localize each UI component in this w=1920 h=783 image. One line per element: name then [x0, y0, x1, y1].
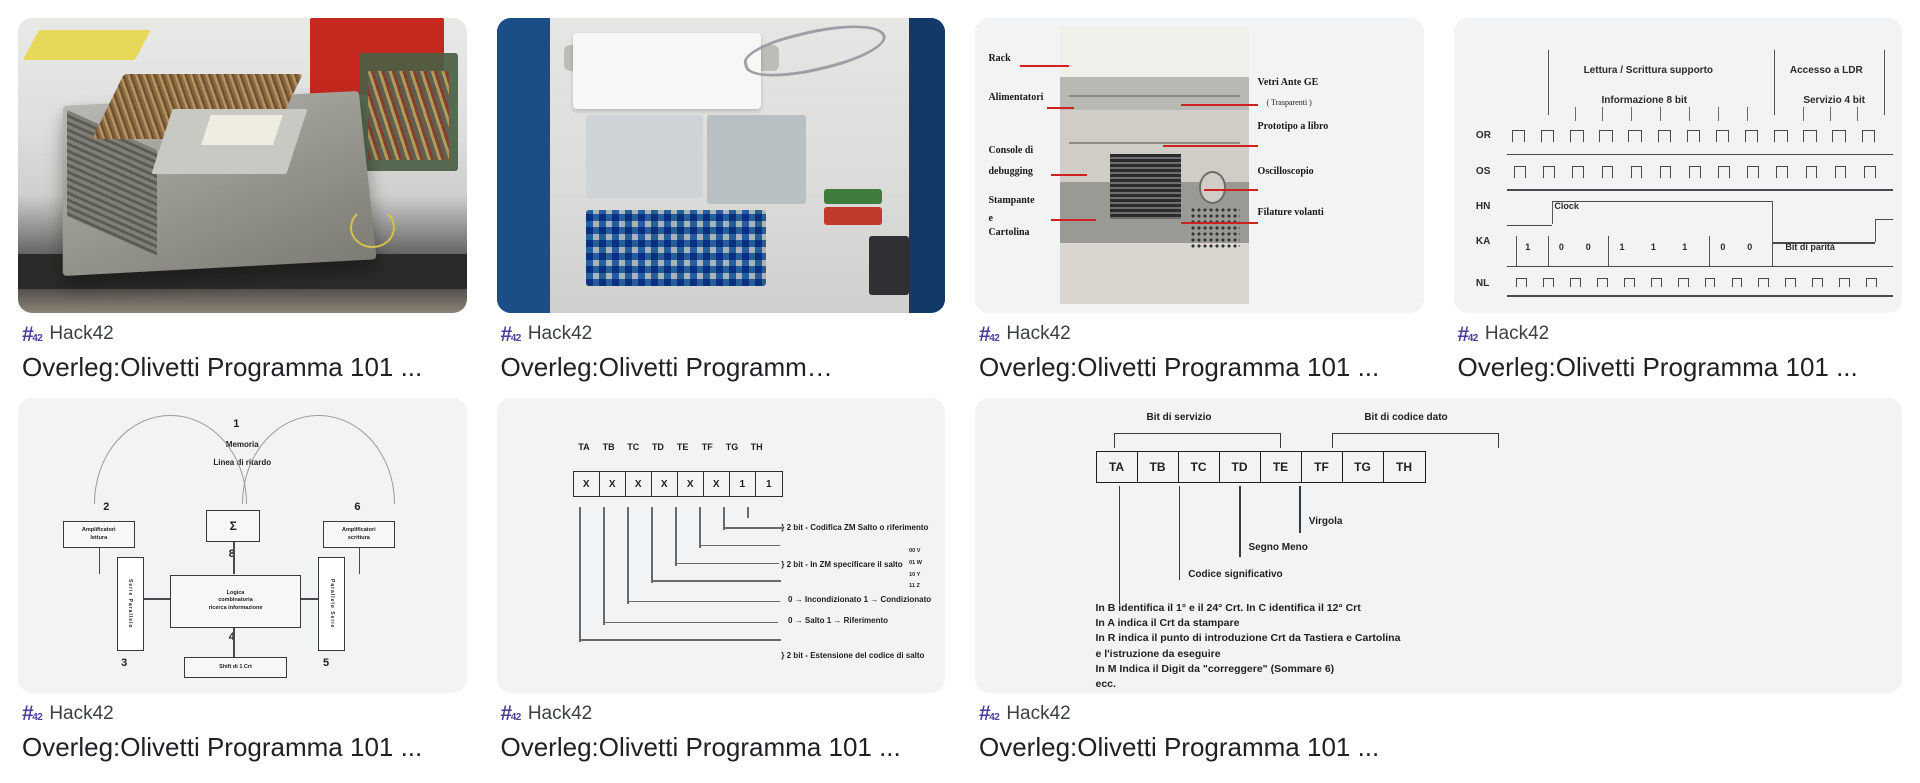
- bitfield-cell: X: [600, 472, 626, 496]
- bit-value: 1: [1682, 242, 1687, 252]
- source-name: Hack42: [49, 703, 113, 725]
- bitfield-cell: X: [652, 472, 678, 496]
- rack-label: Oscilloscopio: [1258, 166, 1314, 177]
- hardware-photo: [18, 18, 467, 313]
- annotation-segno-meno: Segno Meno: [1248, 542, 1307, 553]
- bitfield-header: TG: [721, 442, 743, 452]
- bit-value: 0: [1586, 242, 1591, 252]
- result-caption: #42 Hack42 Overleg:Olivetti Programma 10…: [975, 693, 1902, 764]
- bit-value: 1: [1619, 242, 1624, 252]
- bit-value: 0: [1747, 242, 1752, 252]
- bitfield-cell: TH: [1384, 452, 1425, 482]
- bitfield-cell: TF: [1302, 452, 1343, 482]
- result-card[interactable]: Rack Alimentatori Console di debugging S…: [975, 18, 1424, 384]
- block-shift: Shift di 1 Crt: [184, 657, 287, 678]
- result-thumbnail[interactable]: Bit di servizio Bit di codice dato TA TB…: [975, 398, 1902, 693]
- result-card[interactable]: Bit di servizio Bit di codice dato TA TB…: [975, 398, 1902, 764]
- result-source[interactable]: #42 Hack42: [979, 323, 1420, 345]
- block-number: 3: [121, 657, 127, 669]
- bitfield-note: } 2 bit - Estensione del codice di salto: [781, 651, 924, 660]
- result-title[interactable]: Overleg:Olivetti Programma 101 ...: [22, 351, 463, 384]
- bit-value: 0: [1559, 242, 1564, 252]
- result-card[interactable]: #42 Hack42 Overleg:Olivetti Programma 10…: [18, 18, 467, 384]
- block-summation: Σ: [206, 510, 260, 542]
- service-bitfield-row: TA TB TC TD TE TF TG TH: [1096, 451, 1426, 483]
- bitfield-cell: X: [678, 472, 704, 496]
- timing-subheading-right: Servizio 4 bit: [1803, 95, 1865, 106]
- result-caption: #42 Hack42 Overleg:Olivetti Programma 10…: [18, 313, 467, 384]
- bitfield-cell: TC: [1179, 452, 1220, 482]
- timing-subheading-left: Informazione 8 bit: [1602, 95, 1688, 106]
- hack42-logo-icon: #42: [1458, 324, 1478, 345]
- source-name: Hack42: [1485, 323, 1549, 345]
- bitfield-code: 10 Y: [909, 572, 920, 578]
- hack42-logo-icon: #42: [22, 703, 42, 724]
- bitfield-cell: X: [626, 472, 652, 496]
- hack42-logo-icon: #42: [979, 324, 999, 345]
- jump-bitfield-diagram: TA TB TC TD TE TF TG TH X X X X X X 1 1: [497, 398, 946, 693]
- timing-heading-left: Lettura / Scrittura supporto: [1584, 65, 1713, 76]
- clock-label: Clock: [1554, 201, 1579, 211]
- bitfield-cell: TG: [1343, 452, 1384, 482]
- hack42-logo-icon: #42: [22, 324, 42, 345]
- result-title[interactable]: Overleg:Olivetti Programma 101 ...: [979, 351, 1420, 384]
- bitfield-header: TB: [597, 442, 619, 452]
- source-name: Hack42: [528, 323, 592, 345]
- rack-label: ( Trasparenti ): [1267, 98, 1312, 107]
- result-card[interactable]: 1 Memoria Linea di ritardo 2 Amplificato…: [18, 398, 467, 764]
- bitfield-code: 01 W: [909, 560, 922, 566]
- signal-label-hn: HN: [1476, 201, 1490, 212]
- result-title[interactable]: Overleg:Olivetti Programm…: [501, 351, 942, 384]
- bitfield-header: TE: [671, 442, 693, 452]
- annotation-virgola: Virgola: [1309, 516, 1343, 527]
- annotated-rack-photo: Rack Alimentatori Console di debugging S…: [975, 18, 1424, 313]
- signal-label-ka: KA: [1476, 236, 1490, 247]
- bit-value: 0: [1720, 242, 1725, 252]
- block-serie-parallelo: Serie Parallelo: [117, 557, 144, 651]
- result-source[interactable]: #42 Hack42: [501, 323, 942, 345]
- bitfield-row: X X X X X X 1 1: [573, 471, 783, 497]
- bitfield-header: TF: [696, 442, 718, 452]
- block-parallelo-serie: Parallelo Serie: [318, 557, 345, 651]
- parity-label: Bit di parità: [1785, 242, 1835, 252]
- result-card[interactable]: Lettura / Scrittura supporto Informazion…: [1454, 18, 1903, 384]
- hack42-logo-icon: #42: [979, 703, 999, 724]
- source-name: Hack42: [1006, 323, 1070, 345]
- result-source[interactable]: #42 Hack42: [22, 323, 463, 345]
- signal-label-nl: NL: [1476, 278, 1489, 289]
- result-card[interactable]: TA TB TC TD TE TF TG TH X X X X X X 1 1: [497, 398, 946, 764]
- data-bits-caption: Bit di codice dato: [1364, 412, 1447, 423]
- bitfield-note: 0 → Incondizionato 1 → Condizionato: [788, 595, 931, 604]
- result-title[interactable]: Overleg:Olivetti Programma 101 ...: [1458, 351, 1899, 384]
- bitfield-note: 0 → Salto 1 → Riferimento: [788, 616, 888, 625]
- result-caption: #42 Hack42 Overleg:Olivetti Programma 10…: [975, 313, 1424, 384]
- bitfield-cell: TD: [1220, 452, 1261, 482]
- bitfield-header: TH: [745, 442, 767, 452]
- rack-label: Alimentatori: [988, 92, 1043, 103]
- image-results-grid: #42 Hack42 Overleg:Olivetti Programma 10…: [0, 0, 1920, 763]
- result-thumbnail[interactable]: Lettura / Scrittura supporto Informazion…: [1454, 18, 1903, 313]
- rack-label: Filature volanti: [1258, 207, 1324, 218]
- result-thumbnail[interactable]: TA TB TC TD TE TF TG TH X X X X X X 1 1: [497, 398, 946, 693]
- result-thumbnail[interactable]: Rack Alimentatori Console di debugging S…: [975, 18, 1424, 313]
- bitfield-cell: TB: [1138, 452, 1179, 482]
- rack-label: e: [988, 213, 992, 224]
- rack-label: Rack: [988, 53, 1010, 64]
- source-name: Hack42: [49, 323, 113, 345]
- hack42-logo-icon: #42: [501, 703, 521, 724]
- rack-label: Stampante: [988, 195, 1034, 206]
- source-name: Hack42: [528, 703, 592, 725]
- rack-label: Vetri Ante GE: [1258, 77, 1319, 88]
- block-number: 2: [103, 501, 109, 513]
- result-thumbnail[interactable]: [18, 18, 467, 313]
- result-caption: #42 Hack42 Overleg:Olivetti Programm…: [497, 313, 946, 384]
- signal-label-os: OS: [1476, 166, 1490, 177]
- result-thumbnail[interactable]: [497, 18, 946, 313]
- bitfield-cell: X: [704, 472, 730, 496]
- hack42-logo-icon: #42: [501, 324, 521, 345]
- memory-block-diagram: 1 Memoria Linea di ritardo 2 Amplificato…: [18, 398, 467, 693]
- result-title[interactable]: Overleg:Olivetti Programma 101 ...: [22, 731, 463, 764]
- bit-value: 1: [1525, 242, 1530, 252]
- result-title[interactable]: Overleg:Olivetti Programma 101 ...: [979, 731, 1898, 764]
- bitfield-note: } 2 bit - Codifica ZM Salto o riferiment…: [781, 523, 928, 532]
- bitfield-code: 00 V: [909, 548, 920, 554]
- bitfield-cell: TA: [1097, 452, 1138, 482]
- rack-label: Prototipo a libro: [1258, 121, 1329, 132]
- bitfield-cell: 1: [730, 472, 756, 496]
- bitfield-header: TA: [573, 442, 595, 452]
- timing-diagram: Lettura / Scrittura supporto Informazion…: [1454, 18, 1903, 313]
- programma-101-photo: [497, 18, 946, 313]
- result-source[interactable]: #42 Hack42: [501, 703, 942, 725]
- timing-heading-right: Accesso a LDR: [1790, 65, 1863, 76]
- result-caption: #42 Hack42 Overleg:Olivetti Programma 10…: [18, 693, 467, 764]
- bitfield-code: 11 Z: [909, 583, 920, 589]
- result-caption: #42 Hack42 Overleg:Olivetti Programma 10…: [1454, 313, 1903, 384]
- result-source[interactable]: #42 Hack42: [22, 703, 463, 725]
- bitfield-cell: 1: [756, 472, 782, 496]
- result-card[interactable]: #42 Hack42 Overleg:Olivetti Programm…: [497, 18, 946, 384]
- result-source[interactable]: #42 Hack42: [1458, 323, 1899, 345]
- bitfield-header: TC: [622, 442, 644, 452]
- bitfield-cell: TE: [1261, 452, 1302, 482]
- source-name: Hack42: [1006, 703, 1070, 725]
- bitfield-header: TD: [647, 442, 669, 452]
- block-amplificatori-scrittura: Amplificatoriscrittura: [323, 521, 395, 548]
- rack-label: Cartolina: [988, 227, 1029, 238]
- service-bits-caption: Bit di servizio: [1146, 412, 1211, 423]
- service-paragraph: In B identifica il 1° e il 24° Crt. In C…: [1096, 601, 1401, 692]
- result-title[interactable]: Overleg:Olivetti Programma 101 ...: [501, 731, 942, 764]
- annotation-codice-significativo: Codice significativo: [1188, 569, 1282, 580]
- signal-label-or: OR: [1476, 130, 1491, 141]
- rack-label: debugging: [988, 166, 1032, 177]
- result-caption: #42 Hack42 Overleg:Olivetti Programma 10…: [497, 693, 946, 764]
- block-number: 5: [323, 657, 329, 669]
- block-amplificatori-lettura: Amplificatorilettura: [63, 521, 135, 548]
- block-number: 1: [233, 418, 239, 430]
- block-number: 6: [354, 501, 360, 513]
- bitfield-cell: X: [574, 472, 600, 496]
- result-thumbnail[interactable]: 1 Memoria Linea di ritardo 2 Amplificato…: [18, 398, 467, 693]
- bit-value: 1: [1651, 242, 1656, 252]
- rack-label: Console di: [988, 145, 1033, 156]
- bitfield-note: } 2 bit - In ZM specificare il salto: [781, 560, 902, 569]
- result-source[interactable]: #42 Hack42: [979, 703, 1898, 725]
- block-logica-combinatoria: Logica combinatoria ricerca informazione: [170, 575, 300, 628]
- service-bitfield-diagram: Bit di servizio Bit di codice dato TA TB…: [975, 398, 1902, 693]
